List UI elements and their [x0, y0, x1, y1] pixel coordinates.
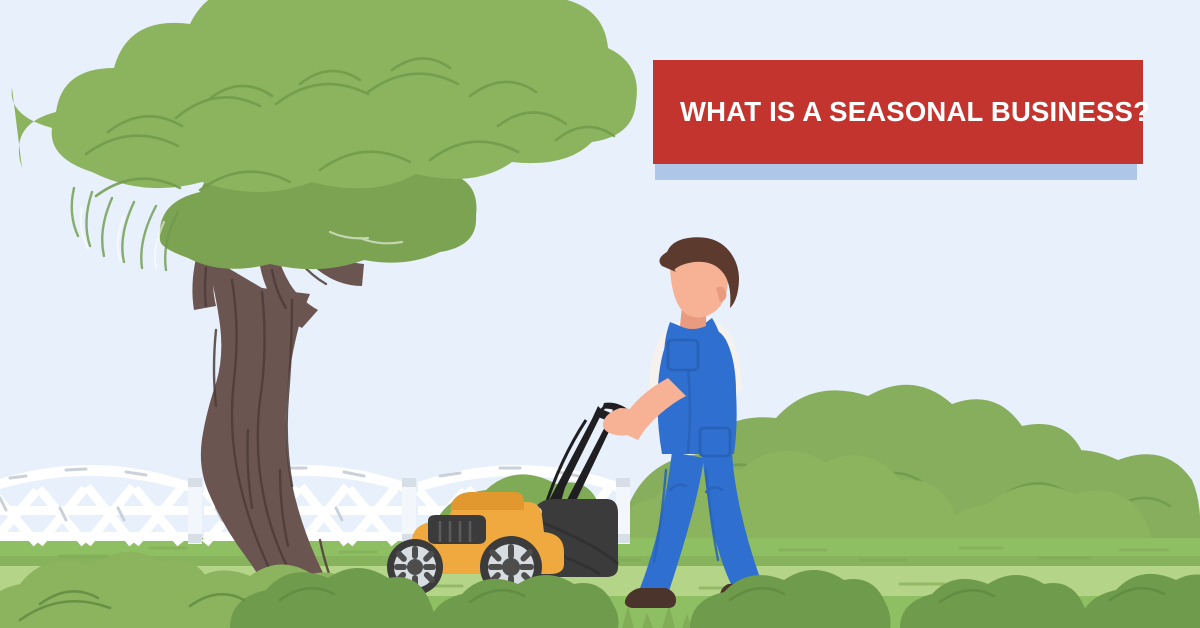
- gardener-shoe-back: [625, 588, 676, 608]
- illustration-canvas: WHAT IS A SEASONAL BUSINESS?: [0, 0, 1200, 628]
- banner-box: WHAT IS A SEASONAL BUSINESS?: [653, 60, 1143, 164]
- headline-banner: WHAT IS A SEASONAL BUSINESS?: [653, 60, 1143, 181]
- banner-title: WHAT IS A SEASONAL BUSINESS?: [653, 96, 1150, 128]
